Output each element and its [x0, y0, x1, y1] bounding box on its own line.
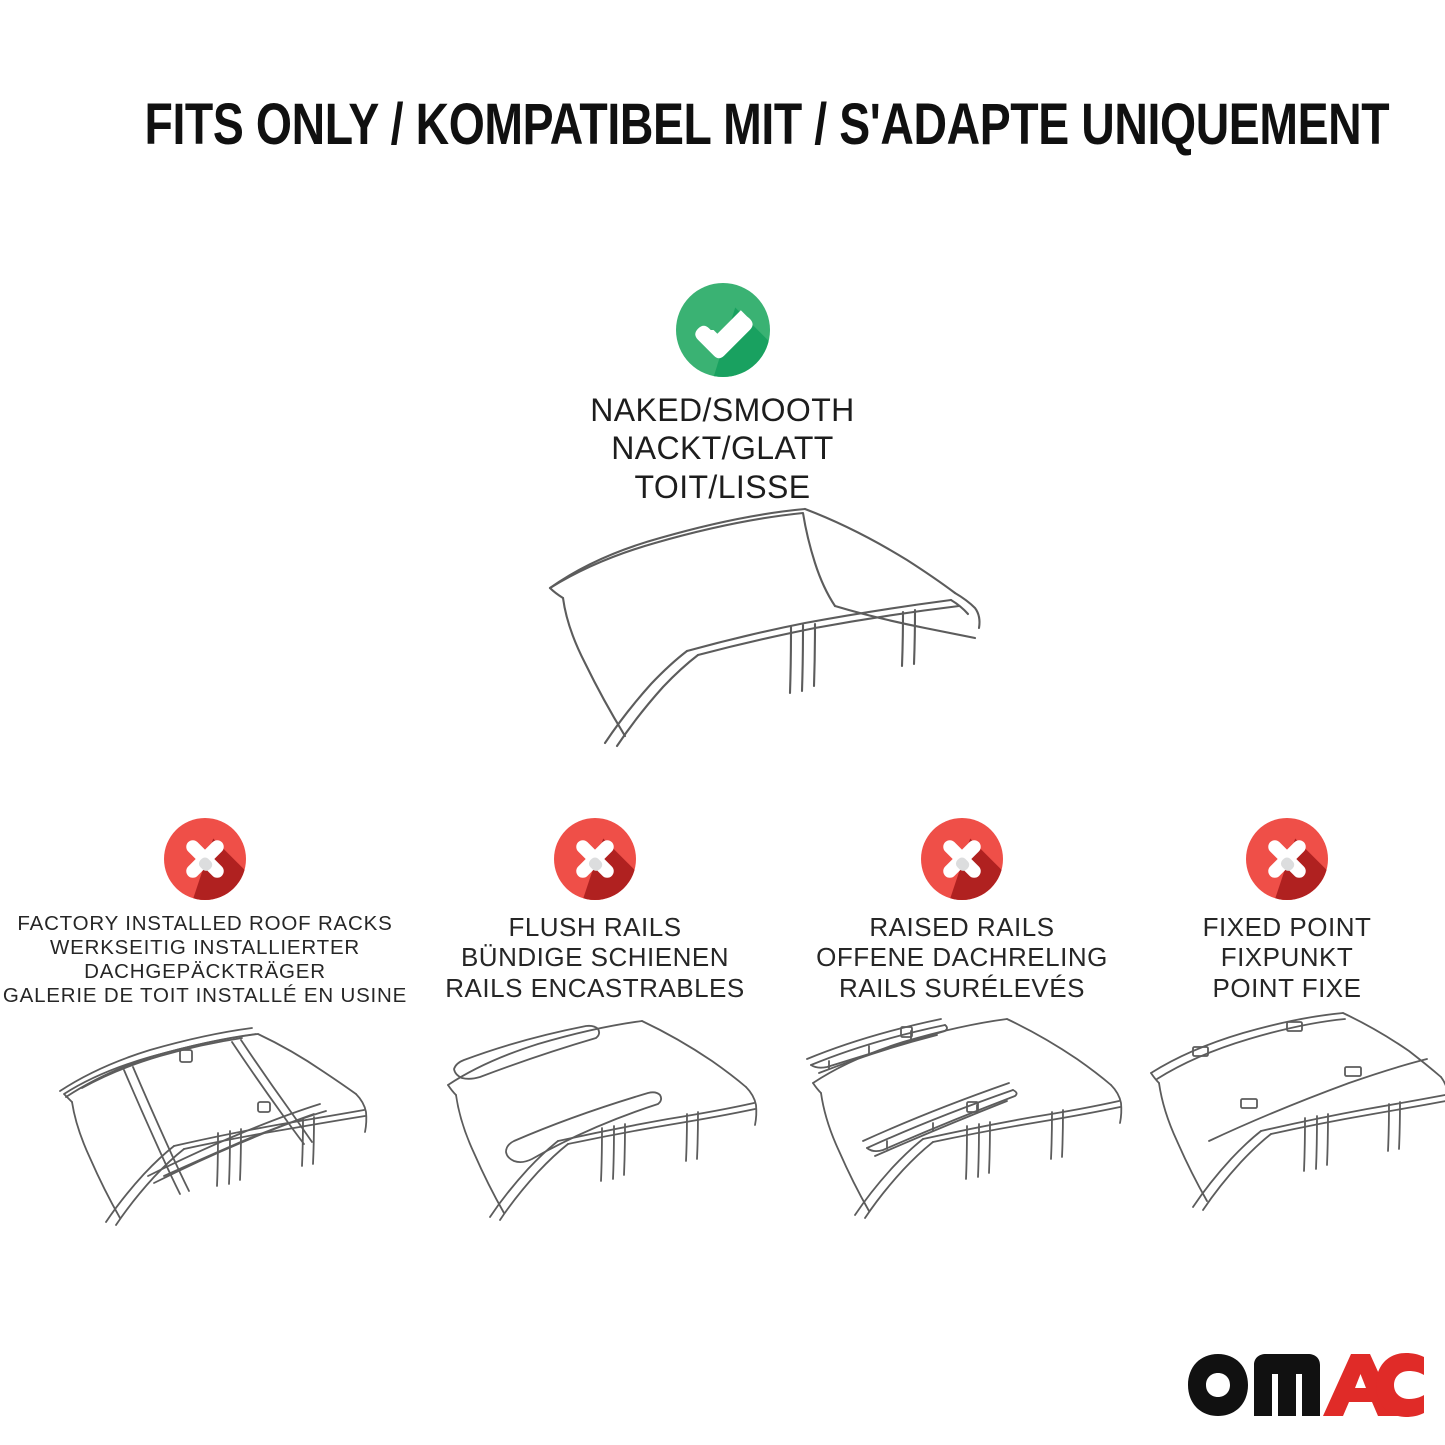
- label-line-2: WERKSEITIG INSTALLIERTER: [3, 936, 407, 960]
- label-line-3: RAILS ENCASTRABLES: [445, 973, 744, 1003]
- label-line-2: FIXPUNKT: [1203, 942, 1372, 972]
- compatible-label-line-2: NACKT/GLATT: [590, 429, 854, 467]
- check-circle-icon: [676, 283, 770, 377]
- label-line-3: RAILS SURÉLEVÉS: [816, 973, 1108, 1003]
- label-line-4: GALERIE DE TOIT INSTALLÉ EN USINE: [3, 984, 407, 1008]
- car-roof-flush-rails-illustration: [410, 1011, 780, 1241]
- label-line-3: DACHGEPÄCKTRÄGER: [3, 960, 407, 984]
- label-line-2: BÜNDIGE SCHIENEN: [445, 942, 744, 972]
- omac-logo: [1186, 1352, 1426, 1418]
- label-line-1: FACTORY INSTALLED ROOF RACKS: [3, 912, 407, 936]
- cross-circle-icon: [921, 818, 1003, 900]
- cross-circle-icon: [554, 818, 636, 900]
- car-roof-naked-smooth-illustration: [455, 488, 1015, 758]
- label-line-2: OFFENE DACHRELING: [816, 942, 1108, 972]
- fitment-guide-page: FITS ONLY / KOMPATIBEL MIT / S'ADAPTE UN…: [0, 0, 1445, 1445]
- label-line-1: FIXED POINT: [1203, 912, 1372, 942]
- car-roof-fixed-point-illustration: [1127, 1011, 1445, 1241]
- compatible-section: NAKED/SMOOTH NACKT/GLATT TOIT/LISSE: [0, 283, 1445, 506]
- incompatible-item-flush-rails: FLUSH RAILS BÜNDIGE SCHIENEN RAILS ENCAS…: [410, 818, 780, 1241]
- incompatible-item-fixed-point: FIXED POINT FIXPUNKT POINT FIXE: [1142, 818, 1432, 1241]
- cross-circle-icon: [164, 818, 246, 900]
- compatible-label-line-1: NAKED/SMOOTH: [590, 391, 854, 429]
- incompatible-label-flush-rails: FLUSH RAILS BÜNDIGE SCHIENEN RAILS ENCAS…: [445, 912, 744, 1003]
- car-roof-raised-rails-illustration: [777, 1011, 1147, 1241]
- label-line-1: RAISED RAILS: [816, 912, 1108, 942]
- incompatible-label-fixed-point: FIXED POINT FIXPUNKT POINT FIXE: [1203, 912, 1372, 1003]
- label-line-3: POINT FIXE: [1203, 973, 1372, 1003]
- incompatible-label-raised-rails: RAISED RAILS OFFENE DACHRELING RAILS SUR…: [816, 912, 1108, 1003]
- label-line-1: FLUSH RAILS: [445, 912, 744, 942]
- incompatible-item-factory-installed-roof-racks: FACTORY INSTALLED ROOF RACKS WERKSEITIG …: [10, 818, 400, 1246]
- cross-circle-icon: [1246, 818, 1328, 900]
- incompatible-item-raised-rails: RAISED RAILS OFFENE DACHRELING RAILS SUR…: [782, 818, 1142, 1241]
- incompatible-row: FACTORY INSTALLED ROOF RACKS WERKSEITIG …: [0, 818, 1445, 1288]
- incompatible-label-factory-installed-roof-racks: FACTORY INSTALLED ROOF RACKS WERKSEITIG …: [3, 912, 407, 1008]
- page-title: FITS ONLY / KOMPATIBEL MIT / S'ADAPTE UN…: [145, 96, 1301, 154]
- car-roof-factory-racks-illustration: [20, 1016, 390, 1246]
